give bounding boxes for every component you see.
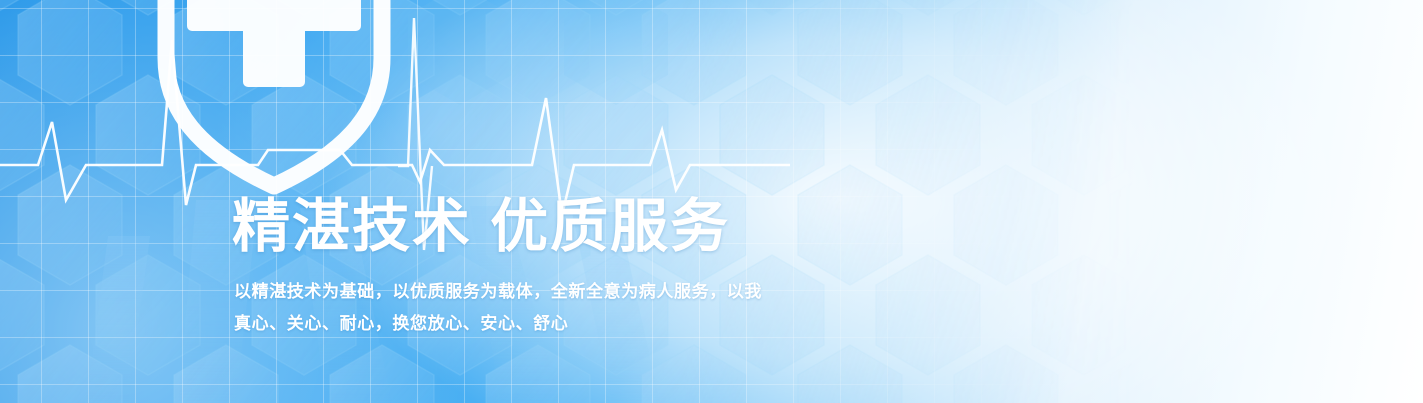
subtitle-line-2: 真心、关心、耐心，换您放心、安心、舒心 xyxy=(234,315,568,332)
subtitle-line-1: 以精湛技术为基础，以优质服务为载体，全新全意为病人服务，以我 xyxy=(234,283,762,300)
doctor-photo xyxy=(780,0,1423,403)
medical-hero-banner: 精湛技术 优质服务 以精湛技术为基础，以优质服务为载体，全新全意为病人服务，以我… xyxy=(0,0,1423,403)
page-title: 精湛技术 优质服务 xyxy=(232,196,730,258)
